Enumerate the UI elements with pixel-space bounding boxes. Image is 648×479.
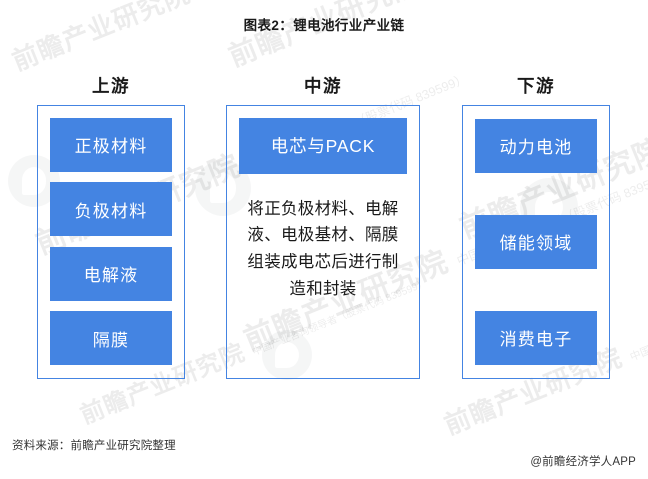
- node-upstream-1[interactable]: 负极材料: [50, 182, 172, 236]
- column-frame-midstream: 电芯与PACK 将正负极材料、电解液、电极基材、隔膜组装成电芯后进行制造和封装: [226, 105, 420, 379]
- column-frame-upstream: 正极材料 负极材料 电解液 隔膜: [37, 105, 185, 379]
- midstream-description: 将正负极材料、电解液、电极基材、隔膜组装成电芯后进行制造和封装: [247, 196, 399, 303]
- credit-note: @前瞻经济学人APP: [530, 453, 636, 469]
- column-downstream: 下游 动力电池 储能领域 消费电子: [462, 78, 610, 379]
- column-midstream: 中游 电芯与PACK 将正负极材料、电解液、电极基材、隔膜组装成电芯后进行制造和…: [226, 78, 420, 379]
- column-header-midstream: 中游: [226, 78, 420, 96]
- node-upstream-3[interactable]: 隔膜: [50, 311, 172, 365]
- node-downstream-0[interactable]: 动力电池: [475, 119, 597, 173]
- node-downstream-1[interactable]: 储能领域: [475, 215, 597, 269]
- column-header-upstream: 上游: [37, 78, 185, 96]
- node-upstream-2[interactable]: 电解液: [50, 247, 172, 301]
- node-upstream-0[interactable]: 正极材料: [50, 118, 172, 172]
- column-upstream: 上游 正极材料 负极材料 电解液 隔膜: [37, 78, 185, 379]
- chart-title: 图表2：锂电池行业产业链: [0, 14, 648, 34]
- column-header-downstream: 下游: [462, 78, 610, 96]
- supply-chain-diagram: 上游 正极材料 负极材料 电解液 隔膜 中游 电芯与PACK 将正负极材料、电解…: [0, 0, 648, 479]
- chart-canvas: 前瞻产业研究院 中国产业咨询领导者（股票代码 839599） 前瞻产业研究院 中…: [0, 0, 648, 479]
- node-midstream-pack[interactable]: 电芯与PACK: [239, 118, 407, 174]
- column-frame-downstream: 动力电池 储能领域 消费电子: [462, 105, 610, 379]
- node-downstream-2[interactable]: 消费电子: [475, 311, 597, 365]
- source-note: 资料来源：前瞻产业研究院整理: [12, 437, 176, 453]
